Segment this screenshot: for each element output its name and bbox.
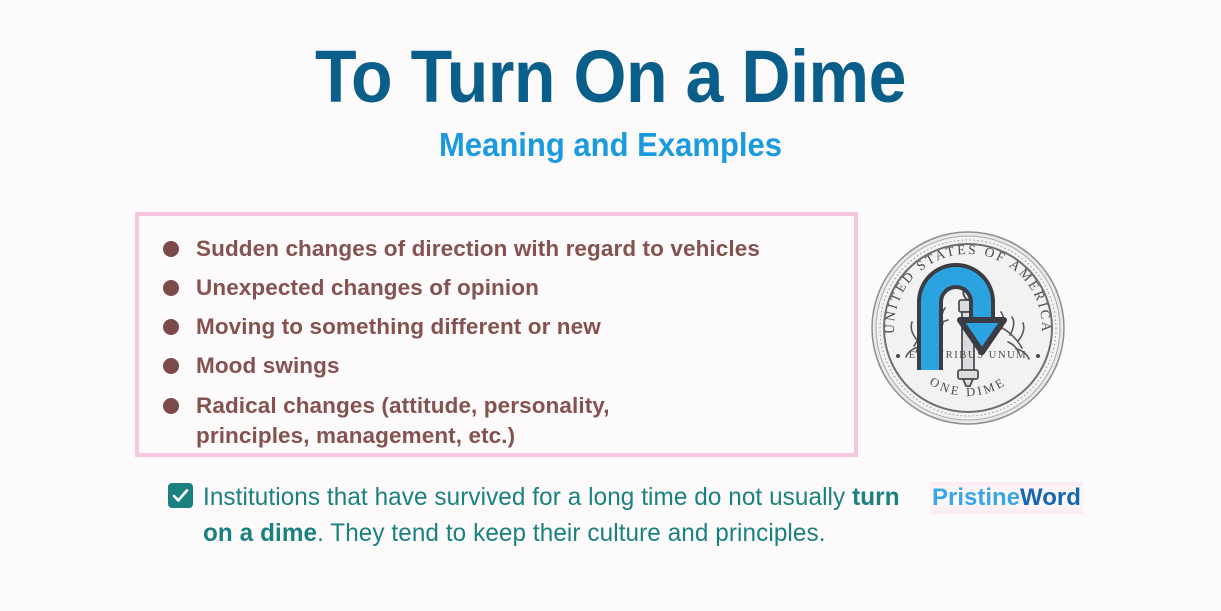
example-text-after: . They tend to keep their culture and pr…	[317, 519, 825, 547]
list-item-label: Unexpected changes of opinion	[196, 273, 539, 303]
bullet-dot-icon	[163, 280, 179, 296]
list-item-label: Sudden changes of direction with regard …	[196, 234, 760, 264]
page-header: To Turn On a Dime Meaning and Examples	[0, 40, 1221, 161]
brand-logo[interactable]: PristineWord	[930, 482, 1083, 514]
example-sentence: Institutions that have survived for a lo…	[168, 480, 958, 551]
page-subtitle: Meaning and Examples	[37, 128, 1185, 161]
bullet-dot-icon	[163, 358, 179, 374]
bullet-dot-icon	[163, 398, 179, 414]
us-dime-reverse-icon: UNITED STATES OF AMERICA ONE DIME E PLUR…	[868, 228, 1068, 428]
list-item: Moving to something different or new	[163, 312, 854, 342]
list-item: Sudden changes of direction with regard …	[163, 234, 854, 264]
list-item: Mood swings	[163, 351, 854, 381]
brand-logo-part-a: Pristine	[932, 484, 1020, 511]
example-text-before: Institutions that have survived for a lo…	[203, 483, 852, 511]
page-title: To Turn On a Dime	[49, 40, 1172, 114]
meanings-box: Sudden changes of direction with regard …	[135, 212, 858, 457]
meanings-list: Sudden changes of direction with regard …	[139, 216, 854, 451]
brand-logo-part-b: Word	[1020, 484, 1081, 511]
list-item: Unexpected changes of opinion	[163, 273, 854, 303]
list-item: Radical changes (attitude, personality, …	[163, 391, 854, 451]
bullet-dot-icon	[163, 319, 179, 335]
list-item-label: Radical changes (attitude, personality, …	[196, 391, 696, 451]
list-item-label: Moving to something different or new	[196, 312, 601, 342]
bullet-dot-icon	[163, 241, 179, 257]
checked-checkbox-icon	[168, 483, 193, 508]
list-item-label: Mood swings	[196, 351, 340, 381]
